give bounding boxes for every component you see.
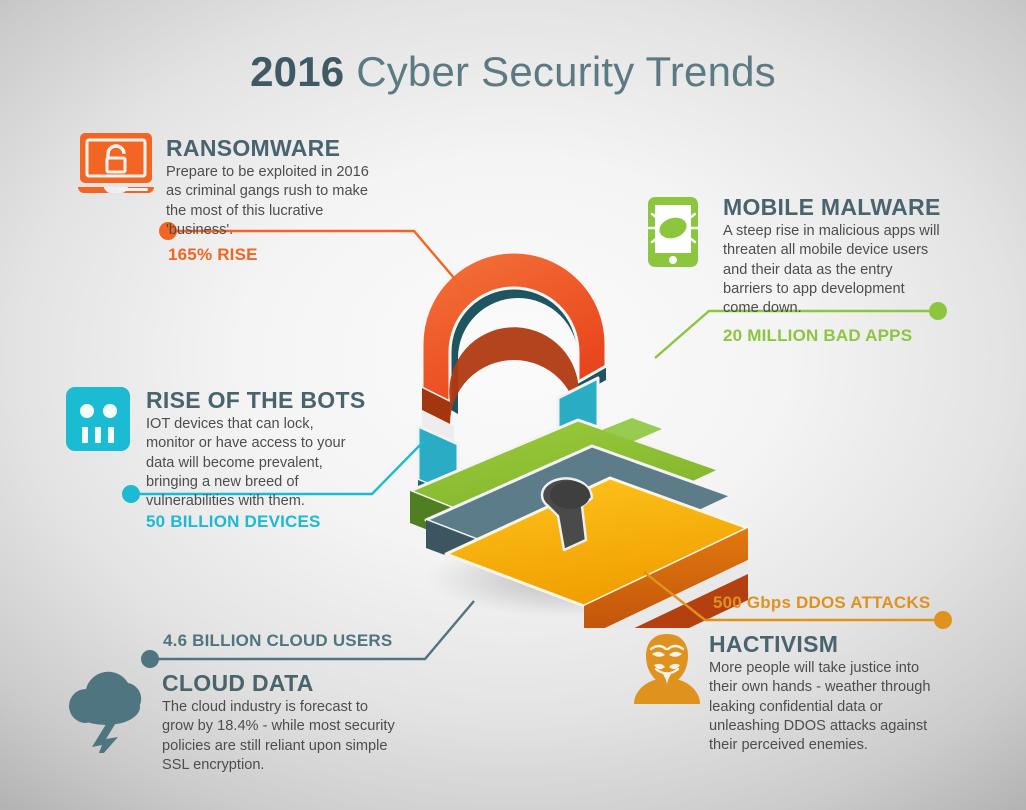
stat-hactivism: 500 Gbps DDOS ATTACKS xyxy=(713,593,930,613)
phone-bug-icon xyxy=(642,196,706,273)
stat-cloud-data: 4.6 BILLION CLOUD USERS xyxy=(163,631,392,651)
padlock-illustration xyxy=(370,248,770,628)
block-body: IOT devices that can lock, monitor or ha… xyxy=(146,415,358,512)
cloud-lightning-icon xyxy=(62,671,150,758)
block-rise-of-the-bots: RISE OF THE BOTS IOT devices that can lo… xyxy=(146,388,358,512)
block-mobile-malware: MOBILE MALWARE A steep rise in malicious… xyxy=(723,195,941,319)
block-heading: HACTIVISM xyxy=(709,632,949,657)
stat-mobile-malware: 20 MILLION BAD APPS xyxy=(723,326,912,346)
block-heading: RISE OF THE BOTS xyxy=(146,388,358,413)
title-year: 2016 xyxy=(250,48,344,95)
stat-ransomware: 165% RISE xyxy=(168,245,258,265)
block-body: Prepare to be exploited in 2016 as crimi… xyxy=(166,163,384,241)
robot-face-icon xyxy=(65,386,131,457)
block-heading: CLOUD DATA xyxy=(162,671,396,696)
title-rest: Cyber Security Trends xyxy=(344,48,776,95)
block-heading: RANSOMWARE xyxy=(166,136,384,161)
block-heading: MOBILE MALWARE xyxy=(723,195,941,220)
infographic-canvas: 2016 Cyber Security Trends xyxy=(0,0,1026,810)
guy-fawkes-mask-icon xyxy=(632,632,702,709)
laptop-padlock-icon xyxy=(78,131,164,198)
stat-rise-of-the-bots: 50 BILLION DEVICES xyxy=(146,512,321,532)
block-ransomware: RANSOMWARE Prepare to be exploited in 20… xyxy=(166,136,384,240)
page-title: 2016 Cyber Security Trends xyxy=(0,48,1026,96)
block-cloud-data: CLOUD DATA The cloud industry is forecas… xyxy=(162,671,396,775)
block-body: A steep rise in malicious apps will thre… xyxy=(723,222,941,319)
block-hactivism: HACTIVISM More people will take justice … xyxy=(709,632,949,756)
block-body: The cloud industry is forecast to grow b… xyxy=(162,698,396,776)
block-body: More people will take justice into their… xyxy=(709,659,949,756)
